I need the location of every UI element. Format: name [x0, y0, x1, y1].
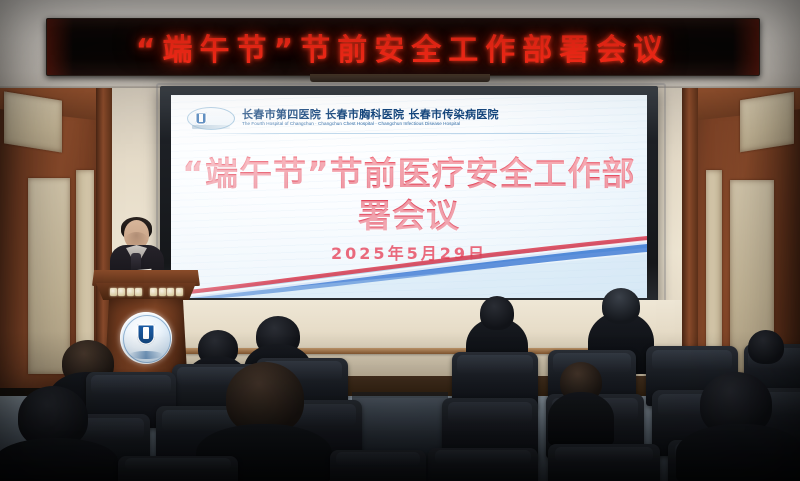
attendee-foreground-left [0, 438, 118, 481]
wall-inset-right-top [740, 92, 794, 153]
chair-left-r3-c1 [118, 456, 238, 481]
wood-bevel-right [682, 88, 698, 388]
slide-header-divider [185, 133, 633, 134]
slide-header: 长春市第四医院 长春市胸科医院 长春市传染病医院 The Fourth Hosp… [187, 105, 633, 131]
attendee-right-mid [548, 392, 614, 446]
presentation-slide: 长春市第四医院 长春市胸科医院 长春市传染病医院 The Fourth Hosp… [171, 95, 647, 298]
led-banner-text: “端午节”节前安全工作部署会议 [136, 25, 670, 69]
attendee-head-front-right-a [480, 296, 514, 330]
slide-header-text: 长春市第四医院 长春市胸科医院 长春市传染病医院 The Fourth Hosp… [242, 109, 499, 127]
hospital-circular-emblem-icon [120, 312, 172, 364]
attendee-head-right-far [748, 330, 784, 364]
projection-screen-frame: 长春市第四医院 长春市胸科医院 长春市传染病医院 The Fourth Hosp… [160, 86, 658, 308]
banner-mount-bracket [310, 74, 490, 82]
emblem-shield [137, 324, 155, 345]
podium-motto-text [110, 288, 183, 296]
hospital-shield-logo-icon [187, 107, 235, 130]
slide-header-english: The Fourth Hospital of Changchun · Chang… [242, 122, 499, 127]
motto-group-right [150, 288, 183, 296]
slide-header-chinese: 长春市第四医院 长春市胸科医院 长春市传染病医院 [242, 109, 499, 121]
podium-motto-band [96, 283, 196, 300]
logo-subtext-bar [192, 125, 230, 129]
chair-right-r3-c1 [428, 448, 538, 481]
wall-inset-right-side [706, 170, 722, 375]
banner-right-glow [733, 19, 759, 75]
slide-title: “端午节”节前医疗安全工作部署会议 [171, 153, 647, 237]
conference-room-photo: “端午节”节前安全工作部署会议 长春市第四医院 长春市胸科医院 长春市传染病医院… [0, 0, 800, 481]
slide-ribbon-decoration [171, 236, 647, 298]
banner-left-glow [47, 19, 73, 75]
attendee-head-front-right-b [602, 288, 640, 324]
motto-group-left [110, 288, 143, 296]
chair-right-r3-c2 [548, 444, 660, 481]
chair-left-r3-c2 [330, 450, 426, 481]
led-banner: “端午节”节前安全工作部署会议 [46, 18, 760, 76]
logo-shield-mark [195, 112, 207, 125]
attendee-foreground-right [676, 424, 800, 481]
wall-inset-left-tall [28, 178, 70, 374]
emblem-text-arc [129, 351, 163, 359]
ribbon-svg [171, 236, 647, 298]
wall-inset-left-top [4, 91, 62, 152]
